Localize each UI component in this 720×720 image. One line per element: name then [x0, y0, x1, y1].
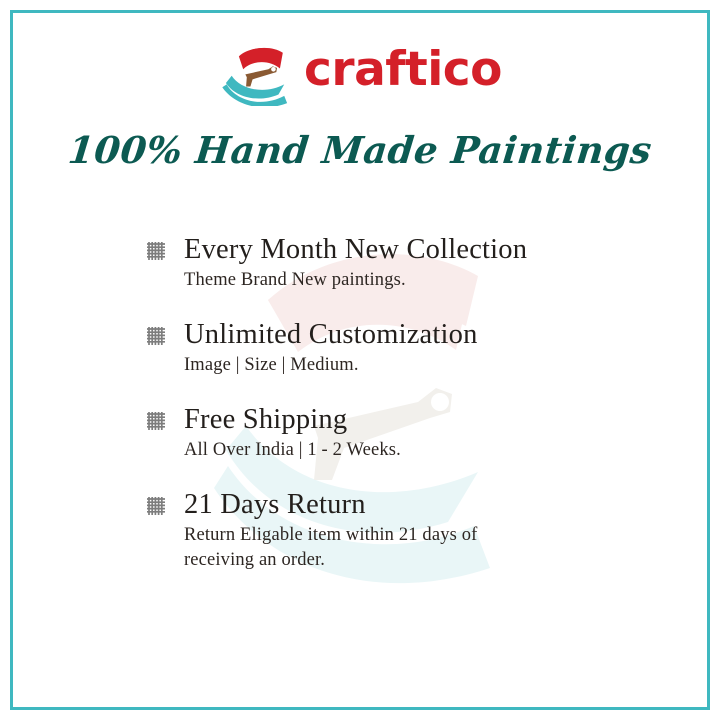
woven-mesh-bullet-icon: [145, 495, 167, 517]
page-title: 100% Hand Made Paintings: [0, 128, 720, 172]
woven-mesh-bullet-icon: [145, 410, 167, 432]
list-item: Unlimited Customization Image | Size | M…: [145, 319, 625, 378]
list-item: Every Month New Collection Theme Brand N…: [145, 234, 625, 293]
woven-mesh-bullet-icon: [145, 240, 167, 262]
feature-title: Unlimited Customization: [184, 319, 625, 351]
woven-mesh-bullet-icon: [145, 325, 167, 347]
feature-subtitle: Image | Size | Medium.: [184, 353, 625, 378]
brand-wordmark: craftico: [304, 46, 502, 95]
feature-title: Free Shipping: [184, 404, 625, 436]
feature-subtitle: Return Eligable item within 21 days of r…: [184, 523, 625, 573]
list-item: Free Shipping All Over India | 1 - 2 Wee…: [145, 404, 625, 463]
feature-subtitle: All Over India | 1 - 2 Weeks.: [184, 438, 625, 463]
feature-list: Every Month New Collection Theme Brand N…: [145, 234, 625, 572]
feature-title: 21 Days Return: [184, 489, 625, 521]
list-item: 21 Days Return Return Eligable item with…: [145, 489, 625, 573]
poster-canvas: craftico 100% Hand Made Paintings Every …: [0, 0, 720, 720]
feature-subtitle: Theme Brand New paintings.: [184, 268, 625, 293]
feature-title: Every Month New Collection: [184, 234, 625, 266]
brand-logo-lockup: craftico: [0, 34, 720, 106]
craftico-c-brush-logo-icon: [218, 34, 290, 106]
